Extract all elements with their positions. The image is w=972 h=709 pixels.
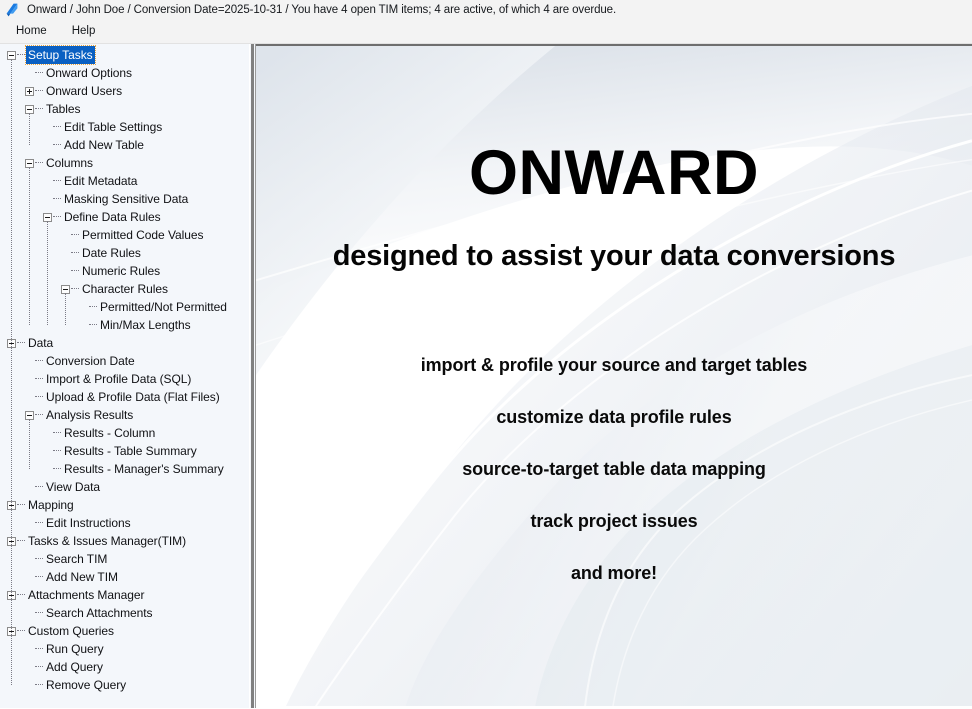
- tree-item-conversion-date[interactable]: Conversion Date: [0, 352, 249, 370]
- onward-swoosh-logo-icon: [4, 2, 20, 18]
- tree-item-view-data[interactable]: View Data: [0, 478, 249, 496]
- tree-item-label: Results - Table Summary: [62, 442, 199, 460]
- tree-item-label: Tables: [44, 100, 82, 118]
- tree-item-label: Define Data Rules: [62, 208, 163, 226]
- tree-item-label: Min/Max Lengths: [98, 316, 193, 334]
- feature-list: import & profile your source and target …: [256, 273, 972, 615]
- tree-connector-line: [35, 414, 43, 416]
- tree-item-label: Character Rules: [80, 280, 170, 298]
- tree-item-label: Numeric Rules: [80, 262, 162, 280]
- tree-item-character-rules[interactable]: Character Rules: [0, 280, 249, 298]
- tree-item-label: Upload & Profile Data (Flat Files): [44, 388, 222, 406]
- tree-item-define-data-rules[interactable]: Define Data Rules: [0, 208, 249, 226]
- menu-bar: Home Help: [0, 20, 972, 44]
- tree-item-label: Permitted Code Values: [80, 226, 205, 244]
- tree-item-label: Edit Instructions: [44, 514, 133, 532]
- feature-item: track project issues: [256, 511, 972, 563]
- tree-item-upload-profile-data-flat-files[interactable]: Upload & Profile Data (Flat Files): [0, 388, 249, 406]
- tree-connector-line: [35, 396, 43, 398]
- tree-item-label: Edit Table Settings: [62, 118, 164, 136]
- tree-connector-line: [71, 270, 79, 272]
- tree-item-onward-users[interactable]: Onward Users: [0, 82, 249, 100]
- tree-item-label: Permitted/Not Permitted: [98, 298, 229, 316]
- tree-connector-line: [35, 576, 43, 578]
- tree-item-mapping[interactable]: Mapping: [0, 496, 249, 514]
- tree-item-label: Conversion Date: [44, 352, 137, 370]
- tree-connector-line: [35, 378, 43, 380]
- tree-item-onward-options[interactable]: Onward Options: [0, 64, 249, 82]
- tree-guide-line: [29, 167, 30, 325]
- feature-item: customize data profile rules: [256, 407, 972, 459]
- tree-connector-line: [53, 126, 61, 128]
- tree-item-label: Masking Sensitive Data: [62, 190, 190, 208]
- tree-connector-line: [71, 252, 79, 254]
- tree-item-label: Columns: [44, 154, 95, 172]
- tree-item-label: Add New Table: [62, 136, 146, 154]
- tree-item-label: Add Query: [44, 658, 105, 676]
- tree-connector-line: [89, 324, 97, 326]
- tree-item-masking-sensitive-data[interactable]: Masking Sensitive Data: [0, 190, 249, 208]
- tree-connector-line: [53, 198, 61, 200]
- tree-item-label: Attachments Manager: [26, 586, 146, 604]
- brand-tagline: designed to assist your data conversions: [333, 205, 896, 273]
- tree-item-permitted-not-permitted[interactable]: Permitted/Not Permitted: [0, 298, 249, 316]
- tree-item-run-query[interactable]: Run Query: [0, 640, 249, 658]
- tree-item-search-tim[interactable]: Search TIM: [0, 550, 249, 568]
- tree-connector-line: [35, 648, 43, 650]
- tree-item-label: Mapping: [26, 496, 76, 514]
- tree-connector-line: [35, 684, 43, 686]
- menu-home[interactable]: Home: [7, 23, 56, 41]
- tree-item-label: Tasks & Issues Manager(TIM): [26, 532, 188, 550]
- tree-guide-line: [65, 293, 66, 325]
- tree-item-date-rules[interactable]: Date Rules: [0, 244, 249, 262]
- tree-connector-line: [35, 486, 43, 488]
- tree-item-edit-metadata[interactable]: Edit Metadata: [0, 172, 249, 190]
- tree-connector-line: [17, 342, 25, 344]
- tree-connector-line: [71, 234, 79, 236]
- tree-item-results-column[interactable]: Results - Column: [0, 424, 249, 442]
- tree-connector-line: [71, 288, 79, 290]
- tree-connector-line: [35, 360, 43, 362]
- tree-item-edit-instructions[interactable]: Edit Instructions: [0, 514, 249, 532]
- tree-item-search-attachments[interactable]: Search Attachments: [0, 604, 249, 622]
- workspace: Setup TasksOnward OptionsOnward UsersTab…: [0, 44, 972, 708]
- tree-item-import-profile-data-sql[interactable]: Import & Profile Data (SQL): [0, 370, 249, 388]
- tree-connector-line: [35, 72, 43, 74]
- tree-item-label: Custom Queries: [26, 622, 116, 640]
- tree-item-label: Analysis Results: [44, 406, 135, 424]
- tree-item-add-new-tim[interactable]: Add New TIM: [0, 568, 249, 586]
- tree-connector-line: [35, 522, 43, 524]
- tree-item-label: Data: [26, 334, 55, 352]
- feature-item: and more!: [256, 563, 972, 615]
- tree-trunk-line: [11, 59, 12, 685]
- tree-item-add-new-table[interactable]: Add New Table: [0, 136, 249, 154]
- panel-splitter[interactable]: [249, 44, 256, 708]
- tree-item-label: Search Attachments: [44, 604, 155, 622]
- tree-connector-line: [53, 180, 61, 182]
- tree-item-edit-table-settings[interactable]: Edit Table Settings: [0, 118, 249, 136]
- tree-item-columns[interactable]: Columns: [0, 154, 249, 172]
- tree-item-attachments-manager[interactable]: Attachments Manager: [0, 586, 249, 604]
- tree-item-min-max-lengths[interactable]: Min/Max Lengths: [0, 316, 249, 334]
- tree-item-label: Results - Column: [62, 424, 157, 442]
- tree-connector-line: [35, 90, 43, 92]
- tree-item-setup-tasks[interactable]: Setup Tasks: [0, 46, 249, 64]
- tree-item-label: Run Query: [44, 640, 106, 658]
- tree-item-results-table-summary[interactable]: Results - Table Summary: [0, 442, 249, 460]
- tree-connector-line: [35, 666, 43, 668]
- tree-item-tables[interactable]: Tables: [0, 100, 249, 118]
- tree-connector-line: [35, 558, 43, 560]
- tree-item-label: Onward Users: [44, 82, 124, 100]
- tree-connector-line: [35, 108, 43, 110]
- tree-item-label: Onward Options: [44, 64, 134, 82]
- navigation-tree[interactable]: Setup TasksOnward OptionsOnward UsersTab…: [0, 44, 249, 708]
- tree-connector-line: [17, 540, 25, 542]
- tree-connector-line: [53, 468, 61, 470]
- brand-title: ONWARD: [469, 142, 759, 205]
- tree-item-numeric-rules[interactable]: Numeric Rules: [0, 262, 249, 280]
- tree-item-custom-queries[interactable]: Custom Queries: [0, 622, 249, 640]
- tree-expand-plus-icon[interactable]: [25, 87, 34, 96]
- tree-connector-line: [17, 594, 25, 596]
- tree-item-label: Date Rules: [80, 244, 143, 262]
- status-text: Onward / John Doe / Conversion Date=2025…: [27, 4, 616, 16]
- tree-guide-line: [29, 113, 30, 145]
- tree-connector-line: [89, 306, 97, 308]
- tree-connector-line: [35, 612, 43, 614]
- tree-item-label: View Data: [44, 478, 102, 496]
- tree-item-permitted-code-values[interactable]: Permitted Code Values: [0, 226, 249, 244]
- tree-connector-line: [53, 432, 61, 434]
- tree-item-label: Add New TIM: [44, 568, 120, 586]
- tree-item-remove-query[interactable]: Remove Query: [0, 676, 249, 694]
- tree-guide-line: [47, 221, 48, 325]
- tree-item-label: Results - Manager's Summary: [62, 460, 226, 478]
- tree-item-analysis-results[interactable]: Analysis Results: [0, 406, 249, 424]
- feature-item: source-to-target table data mapping: [256, 459, 972, 511]
- tree-connector-line: [17, 630, 25, 632]
- feature-item: import & profile your source and target …: [256, 355, 972, 407]
- tree-item-data[interactable]: Data: [0, 334, 249, 352]
- menu-help[interactable]: Help: [63, 23, 105, 41]
- tree-connector-line: [53, 450, 61, 452]
- tree-item-label: Setup Tasks: [26, 46, 95, 64]
- tree-item-tasks-issues-manager-tim[interactable]: Tasks & Issues Manager(TIM): [0, 532, 249, 550]
- tree-item-label: Remove Query: [44, 676, 128, 694]
- tree-item-label: Import & Profile Data (SQL): [44, 370, 193, 388]
- title-status-bar: Onward / John Doe / Conversion Date=2025…: [0, 0, 972, 20]
- tree-item-results-manager-s-summary[interactable]: Results - Manager's Summary: [0, 460, 249, 478]
- content-panel: ONWARD designed to assist your data conv…: [256, 44, 972, 708]
- tree-connector-line: [35, 162, 43, 164]
- tree-connector-line: [53, 144, 61, 146]
- tree-guide-line: [29, 419, 30, 469]
- tree-connector-line: [53, 216, 61, 218]
- tree-item-label: Edit Metadata: [62, 172, 139, 190]
- tree-item-add-query[interactable]: Add Query: [0, 658, 249, 676]
- tree-connector-line: [17, 54, 25, 56]
- tree-item-label: Search TIM: [44, 550, 109, 568]
- tree-connector-line: [17, 504, 25, 506]
